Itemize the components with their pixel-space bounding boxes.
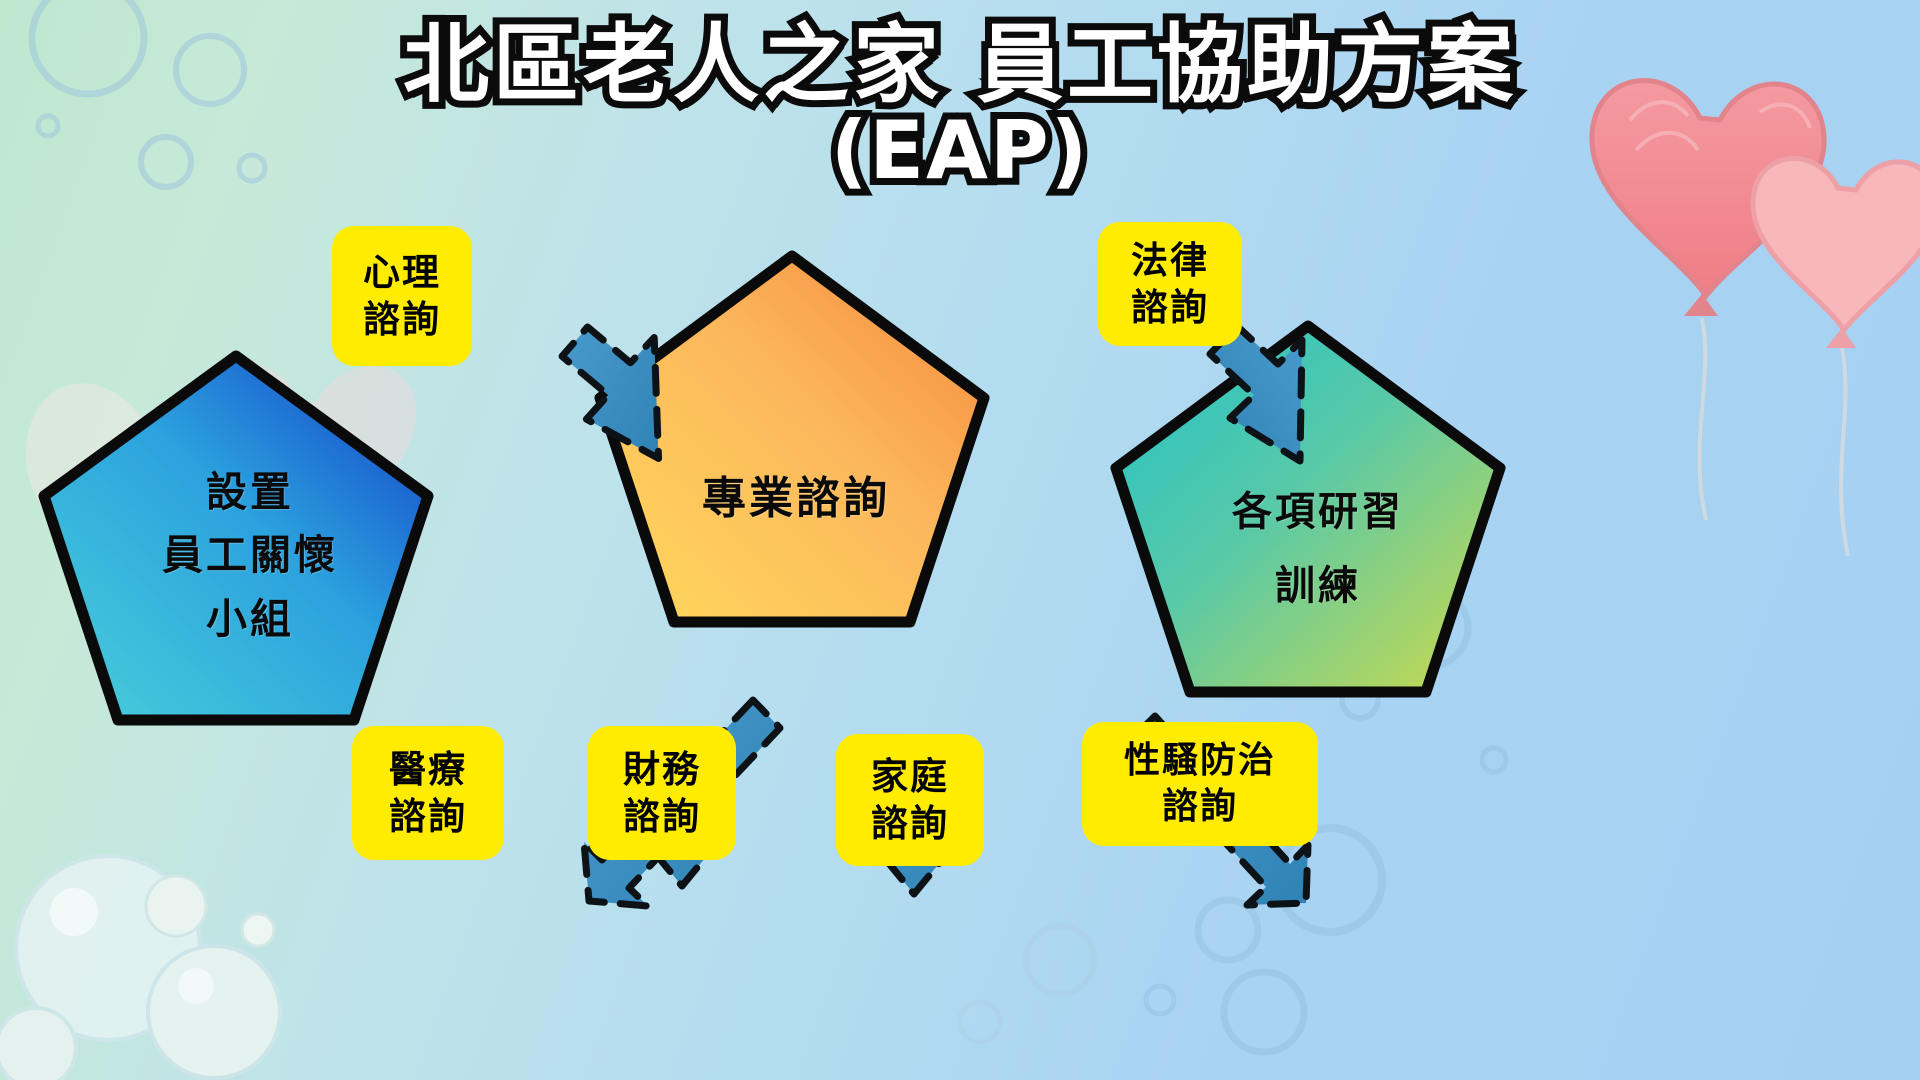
tag-legal-consultation[interactable]: 法律 諮詢 [1098,222,1242,346]
pentagon-center-shape [592,248,992,630]
pentagon-left-label: 設置 員工關懷 小組 [162,461,338,652]
tag-family-consultation[interactable]: 家庭 諮詢 [836,734,984,866]
pentagon-center-label: 專業諮詢 [702,465,890,533]
pentagon-training-programs[interactable]: 各項研習 訓練 [1108,318,1508,700]
tag-psychological-label: 心理 諮詢 [363,249,441,344]
pentagon-right-label: 各項研習 訓練 [1232,475,1404,623]
tag-family-label: 家庭 諮詢 [871,753,949,848]
tag-medical-label: 醫療 諮詢 [389,746,467,841]
tag-financial-label: 財務 諮詢 [623,746,701,841]
tag-psychological-consultation[interactable]: 心理 諮詢 [332,226,472,366]
title-line-2: (EAP) [0,110,1920,192]
page-title: 北區老人之家 員工協助方案 (EAP) [0,22,1920,191]
tag-medical-consultation[interactable]: 醫療 諮詢 [352,726,504,860]
tag-harassment-label: 性騷防治 諮詢 [1124,738,1276,830]
tag-harassment-prevention-consultation[interactable]: 性騷防治 諮詢 [1082,722,1318,846]
pentagon-professional-consultation[interactable]: 專業諮詢 [592,248,992,630]
pentagon-employee-care-team[interactable]: 設置 員工關懷 小組 [36,348,436,728]
tag-financial-consultation[interactable]: 財務 諮詢 [588,726,736,860]
title-line-1: 北區老人之家 員工協助方案 [0,22,1920,110]
infographic-canvas: 北區老人之家 員工協助方案 (EAP) [0,0,1920,1080]
tag-legal-label: 法律 諮詢 [1131,237,1209,332]
